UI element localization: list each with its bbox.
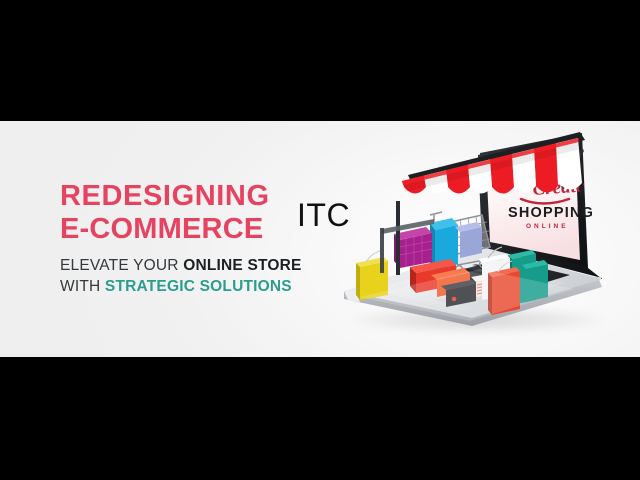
shop-awning <box>402 132 585 195</box>
letterbox-bar-bottom <box>0 357 640 480</box>
itc-overlay-text: ITC <box>297 199 350 231</box>
ecommerce-banner: REDESIGNING E-COMMERCE ELEVATE YOUR ONLI… <box>0 121 640 357</box>
subheadline-line-1: ELEVATE YOUR ONLINE STORE <box>60 256 360 276</box>
banner-image: REDESIGNING E-COMMERCE ELEVATE YOUR ONLI… <box>0 0 640 480</box>
subheadline-line-1-plain: ELEVATE YOUR <box>60 257 183 274</box>
subheadline-line-1-strong: ONLINE STORE <box>183 257 301 274</box>
subheadline-line-2-accent: STRATEGIC SOLUTIONS <box>105 278 292 295</box>
laptop-shopping-graphic: Create SHOPPING ONLINE <box>330 129 630 354</box>
letterbox-bar-top <box>0 0 640 121</box>
subheadline-line-2-plain: WITH <box>60 278 105 295</box>
screen-subtitle: ONLINE <box>526 223 569 230</box>
subheadline-line-2: WITH STRATEGIC SOLUTIONS <box>60 277 360 297</box>
screen-title: SHOPPING <box>508 205 594 221</box>
